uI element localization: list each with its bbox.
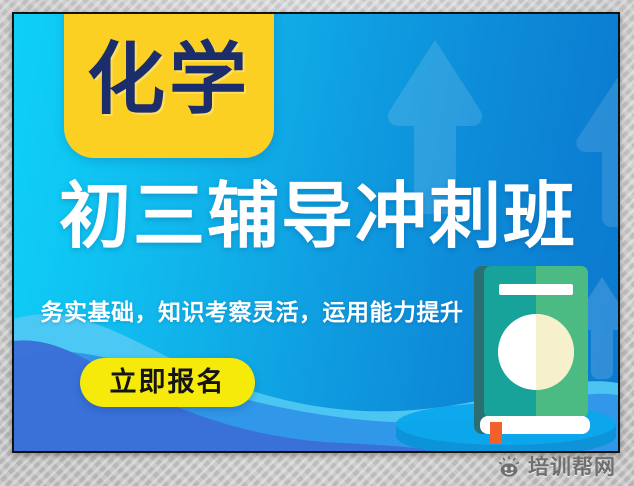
watermark-text: 培训帮网 (528, 457, 616, 478)
watermark: 培训帮网 (497, 455, 616, 479)
subject-badge: 化学 (64, 14, 274, 158)
poster-subtitle: 务实基础，知识考察灵活，运用能力提升 (26, 300, 478, 328)
sun-face-logo-icon (497, 455, 521, 479)
poster-frame: 化学 初三辅导冲刺班 务实基础，知识考察灵活，运用能力提升 立即报名 (12, 12, 620, 453)
promo-banner: 化学 初三辅导冲刺班 务实基础，知识考察灵活，运用能力提升 立即报名 (14, 14, 618, 451)
enroll-now-button[interactable]: 立即报名 (80, 358, 255, 407)
subject-badge-label: 化学 (87, 41, 251, 125)
enroll-now-button-label: 立即报名 (110, 369, 226, 396)
textbook-illustration (466, 264, 596, 444)
screenshot-canvas: 化学 初三辅导冲刺班 务实基础，知识考察灵活，运用能力提升 立即报名 (0, 0, 634, 486)
poster-headline: 初三辅导冲刺班 (26, 180, 610, 252)
